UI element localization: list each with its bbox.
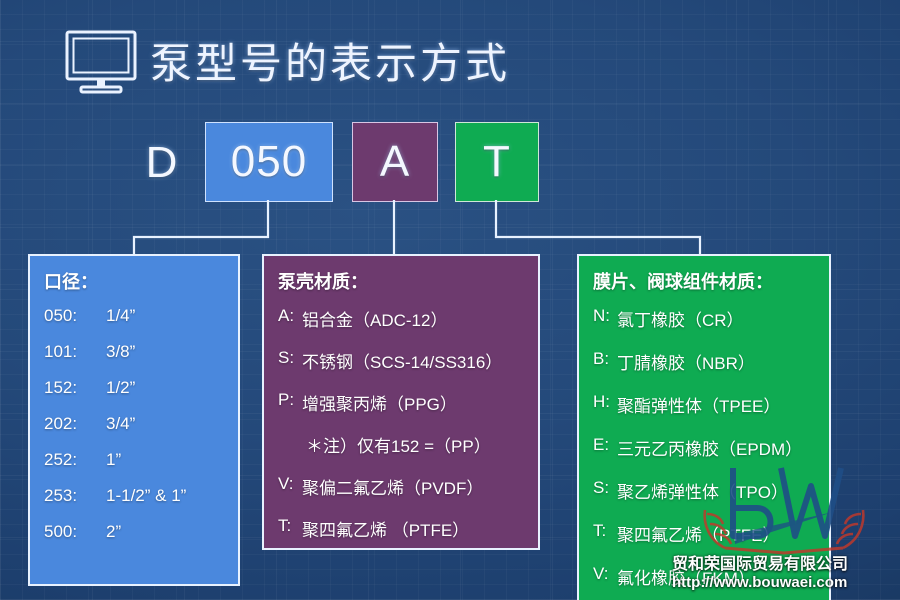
row-key: N: bbox=[593, 306, 617, 331]
list-item: P: 增强聚丙烯（PPG） bbox=[278, 390, 524, 415]
row-key: T: bbox=[278, 516, 302, 541]
row-value: 增强聚丙烯（PPG） bbox=[302, 390, 457, 415]
page-title: 泵型号的表示方式 bbox=[150, 30, 510, 91]
row-key: E: bbox=[593, 435, 617, 460]
code-token-bore: 050 bbox=[205, 122, 333, 202]
list-item: 253: 1-1/2” & 1” bbox=[44, 486, 224, 506]
list-item: N: 氯丁橡胶（CR） bbox=[593, 306, 815, 331]
list-item: 252: 1” bbox=[44, 450, 224, 470]
list-item: H: 聚酯弹性体（TPEE） bbox=[593, 392, 815, 417]
row-value: 3/8” bbox=[106, 342, 135, 362]
row-key: 152: bbox=[44, 378, 106, 398]
row-value: 3/4” bbox=[106, 414, 135, 434]
row-value: 2” bbox=[106, 522, 121, 542]
row-key: 253: bbox=[44, 486, 106, 506]
row-value: 1” bbox=[106, 450, 121, 470]
row-key: S: bbox=[593, 478, 617, 503]
watermark-text: 贸和荣国际贸易有限公司 http://www.bouwaei.com bbox=[672, 556, 900, 592]
panel-diaphragm-title: 膜片、阀球组件材质： bbox=[593, 268, 815, 294]
panel-casing-title: 泵壳材质： bbox=[278, 268, 524, 294]
row-key: B: bbox=[593, 349, 617, 374]
watermark-company: 贸和荣国际贸易有限公司 bbox=[672, 556, 900, 574]
row-key: 252: bbox=[44, 450, 106, 470]
row-value: 1/4” bbox=[106, 306, 135, 326]
row-key: H: bbox=[593, 392, 617, 417]
code-token-diaphragm: T bbox=[455, 122, 539, 202]
list-item: B: 丁腈橡胶（NBR） bbox=[593, 349, 815, 374]
row-value: 聚四氟乙烯 （PTFE） bbox=[302, 516, 469, 541]
list-item: 050: 1/4” bbox=[44, 306, 224, 326]
watermark-url: http://www.bouwaei.com bbox=[672, 574, 900, 591]
row-key: 050: bbox=[44, 306, 106, 326]
list-item: S: 不锈钢（SCS-14/SS316） bbox=[278, 348, 524, 373]
row-value: 1-1/2” & 1” bbox=[106, 486, 186, 506]
panel-bore: 口径： 050: 1/4” 101: 3/8” 152: 1/2” 202: 3… bbox=[28, 254, 240, 586]
row-value: 聚酯弹性体（TPEE） bbox=[617, 392, 780, 417]
row-key: V: bbox=[593, 564, 617, 589]
row-key: P: bbox=[278, 390, 302, 415]
row-key: A: bbox=[278, 306, 302, 331]
row-note: ＊注）仅有152 =（PP） bbox=[278, 432, 491, 457]
code-token-d: D bbox=[134, 127, 190, 199]
row-key: T: bbox=[593, 521, 617, 546]
list-item: 101: 3/8” bbox=[44, 342, 224, 362]
row-value: 铝合金（ADC-12） bbox=[302, 306, 447, 331]
monitor-icon bbox=[64, 29, 138, 95]
row-key: 101: bbox=[44, 342, 106, 362]
row-value: 不锈钢（SCS-14/SS316） bbox=[302, 348, 502, 373]
list-item: A: 铝合金（ADC-12） bbox=[278, 306, 524, 331]
list-item: 500: 2” bbox=[44, 522, 224, 542]
row-key: 202: bbox=[44, 414, 106, 434]
panel-bore-title: 口径： bbox=[44, 268, 224, 294]
row-key: S: bbox=[278, 348, 302, 373]
row-key: 500: bbox=[44, 522, 106, 542]
row-value: 1/2” bbox=[106, 378, 135, 398]
list-item: V: 聚偏二氟乙烯（PVDF） bbox=[278, 474, 524, 499]
slide-canvas: 泵型号的表示方式 D 050 A T 口径： 050: 1/4” 101: 3/… bbox=[0, 0, 900, 600]
bow-logo-watermark bbox=[695, 452, 873, 560]
row-value: 丁腈橡胶（NBR） bbox=[617, 349, 755, 374]
row-value: 氯丁橡胶（CR） bbox=[617, 306, 744, 331]
row-key: V: bbox=[278, 474, 302, 499]
list-item: 152: 1/2” bbox=[44, 378, 224, 398]
row-value: 聚偏二氟乙烯（PVDF） bbox=[302, 474, 483, 499]
panel-casing: 泵壳材质： A: 铝合金（ADC-12） S: 不锈钢（SCS-14/SS316… bbox=[262, 254, 540, 550]
list-item-note: ＊注）仅有152 =（PP） bbox=[278, 432, 524, 457]
code-token-casing: A bbox=[352, 122, 438, 202]
list-item: T: 聚四氟乙烯 （PTFE） bbox=[278, 516, 524, 541]
list-item: 202: 3/4” bbox=[44, 414, 224, 434]
